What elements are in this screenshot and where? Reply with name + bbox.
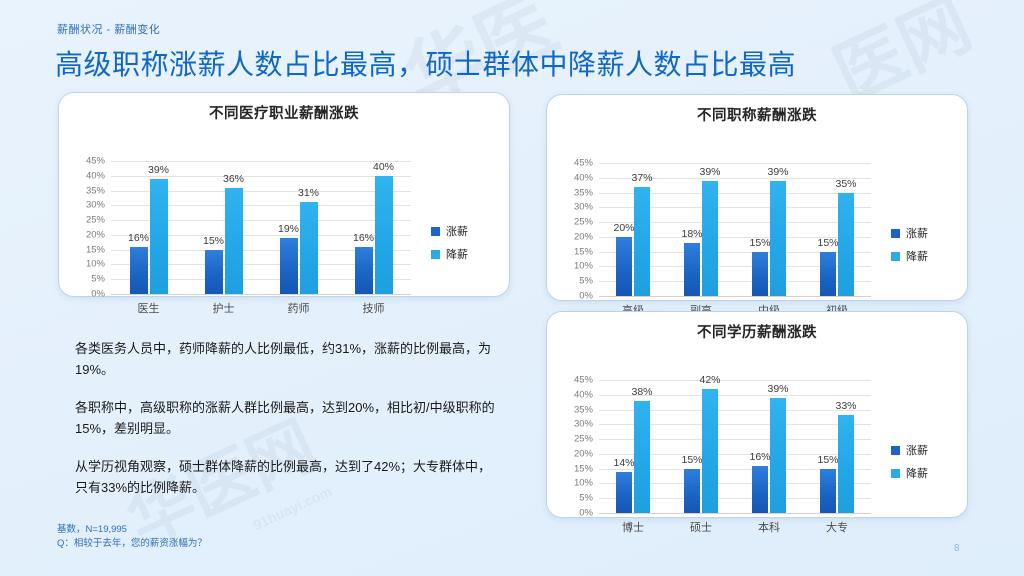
gridline	[111, 161, 411, 162]
x-axis-tick: 技师	[363, 300, 385, 316]
bar-title-rank-中级-降薪	[770, 181, 786, 296]
legend-label: 降薪	[446, 246, 468, 262]
y-axis-tick: 30%	[555, 419, 593, 430]
y-axis-tick: 5%	[555, 493, 593, 504]
x-axis-tick: 本科	[758, 519, 780, 535]
page-number: 8	[954, 543, 960, 554]
legend-item-降薪[interactable]: 降薪	[891, 248, 928, 264]
x-axis-tick: 博士	[622, 519, 644, 535]
bar-education-本科-降薪	[770, 398, 786, 513]
chart-card-title-rank: 不同职称薪酬涨跌 45%40%35%30%25%20%15%10%5%0%20%…	[546, 94, 968, 301]
bar-value-label: 35%	[835, 178, 856, 190]
axis-baseline	[111, 294, 411, 295]
bar-education-硕士-降薪	[702, 389, 718, 513]
insight-paragraph-3: 从学历视角观察，硕士群体降薪的比例最高，达到了42%；大专群体中，只有33%的比…	[75, 456, 495, 498]
legend-label: 涨薪	[906, 225, 928, 241]
bar-value-label: 15%	[681, 454, 702, 466]
bar-title-rank-中级-涨薪	[752, 252, 768, 296]
bar-title-rank-初级-涨薪	[820, 252, 836, 296]
bar-value-label: 38%	[631, 386, 652, 398]
y-axis-tick: 15%	[67, 244, 105, 255]
chart-card-education: 不同学历薪酬涨跌 45%40%35%30%25%20%15%10%5%0%14%…	[546, 311, 968, 518]
y-axis-tick: 10%	[555, 478, 593, 489]
legend-label: 降薪	[906, 248, 928, 264]
bar-value-label: 14%	[613, 457, 634, 469]
legend-label: 涨薪	[906, 442, 928, 458]
insight-text: 各类医务人员中，药师降薪的人比例最低，约31%，涨薪的比例最高，为19%。 各职…	[75, 338, 495, 498]
x-axis-tick: 医生	[138, 300, 160, 316]
page-title: 高级职称涨薪人数占比最高，硕士群体中降薪人数占比最高	[55, 43, 796, 83]
bar-value-label: 15%	[749, 237, 770, 249]
bar-value-label: 36%	[223, 173, 244, 185]
bar-education-博士-涨薪	[616, 472, 632, 513]
y-axis-tick: 25%	[555, 217, 593, 228]
bar-value-label: 39%	[767, 383, 788, 395]
bar-education-大专-降薪	[838, 415, 854, 513]
chart-title-profession: 不同医疗职业薪酬涨跌	[59, 93, 509, 123]
legend-label: 涨薪	[446, 223, 468, 239]
chart-legend: 涨薪降薪	[891, 442, 928, 488]
bar-value-label: 31%	[298, 187, 319, 199]
y-axis-tick: 20%	[555, 231, 593, 242]
chart-title-education: 不同学历薪酬涨跌	[547, 312, 967, 342]
bar-value-label: 33%	[835, 400, 856, 412]
bar-profession-技师-涨薪	[355, 247, 373, 294]
y-axis-tick: 0%	[67, 289, 105, 300]
bar-value-label: 15%	[203, 235, 224, 247]
x-axis-tick: 硕士	[690, 519, 712, 535]
y-axis-tick: 0%	[555, 291, 593, 302]
y-axis-tick: 40%	[555, 389, 593, 400]
y-axis-tick: 30%	[67, 200, 105, 211]
bar-value-label: 18%	[681, 228, 702, 240]
insight-paragraph-2: 各职称中，高级职称的涨薪人群比例最高，达到20%，相比初/中级职称的15%，差别…	[75, 397, 495, 439]
chart-legend: 涨薪降薪	[431, 223, 468, 269]
bar-title-rank-高级-降薪	[634, 187, 650, 296]
breadcrumb: 薪酬状况 - 薪酬变化	[57, 21, 160, 37]
legend-item-降薪[interactable]: 降薪	[891, 465, 928, 481]
y-axis-tick: 40%	[555, 172, 593, 183]
y-axis-tick: 25%	[555, 434, 593, 445]
legend-swatch-icon	[891, 446, 900, 455]
bar-value-label: 20%	[613, 222, 634, 234]
bar-education-大专-涨薪	[820, 469, 836, 513]
legend-swatch-icon	[431, 227, 440, 236]
y-axis-tick: 35%	[67, 185, 105, 196]
y-axis-tick: 45%	[555, 375, 593, 386]
bar-value-label: 40%	[373, 161, 394, 173]
bar-title-rank-高级-涨薪	[616, 237, 632, 296]
bar-profession-医生-涨薪	[130, 247, 148, 294]
y-axis-tick: 0%	[555, 508, 593, 519]
legend-swatch-icon	[431, 250, 440, 259]
bar-profession-护士-降薪	[225, 188, 243, 294]
legend-item-涨薪[interactable]: 涨薪	[431, 223, 468, 239]
y-axis-tick: 5%	[555, 276, 593, 287]
y-axis-tick: 20%	[555, 448, 593, 459]
bar-value-label: 39%	[767, 166, 788, 178]
legend-item-涨薪[interactable]: 涨薪	[891, 442, 928, 458]
legend-label: 降薪	[906, 465, 928, 481]
y-axis-tick: 45%	[555, 158, 593, 169]
chart-legend: 涨薪降薪	[891, 225, 928, 271]
bar-profession-医生-降薪	[150, 179, 168, 294]
bar-value-label: 39%	[148, 164, 169, 176]
bar-education-硕士-涨薪	[684, 469, 700, 513]
x-axis-tick: 大专	[826, 519, 848, 535]
y-axis-tick: 15%	[555, 246, 593, 257]
bar-value-label: 16%	[353, 232, 374, 244]
y-axis-tick: 25%	[67, 215, 105, 226]
y-axis-tick: 40%	[67, 170, 105, 181]
legend-swatch-icon	[891, 469, 900, 478]
bar-profession-护士-涨薪	[205, 250, 223, 294]
footnote-question: Q：相较于去年，您的薪资涨幅为？	[57, 537, 207, 551]
axis-baseline	[599, 513, 871, 514]
bar-education-博士-降薪	[634, 401, 650, 513]
bar-title-rank-副高-降薪	[702, 181, 718, 296]
gridline	[599, 380, 871, 381]
insight-paragraph-1: 各类医务人员中，药师降薪的人比例最低，约31%，涨薪的比例最高，为19%。	[75, 338, 495, 380]
bar-value-label: 37%	[631, 172, 652, 184]
bar-value-label: 15%	[817, 237, 838, 249]
x-axis-tick: 药师	[288, 300, 310, 316]
y-axis-tick: 5%	[67, 274, 105, 285]
bar-education-本科-涨薪	[752, 466, 768, 513]
bar-profession-药师-降薪	[300, 202, 318, 294]
legend-item-降薪[interactable]: 降薪	[431, 246, 468, 262]
y-axis-tick: 10%	[67, 259, 105, 270]
bar-value-label: 16%	[749, 451, 770, 463]
y-axis-tick: 35%	[555, 187, 593, 198]
y-axis-tick: 30%	[555, 202, 593, 213]
bar-value-label: 42%	[699, 374, 720, 386]
bar-value-label: 19%	[278, 223, 299, 235]
bar-value-label: 16%	[128, 232, 149, 244]
bar-profession-技师-降薪	[375, 176, 393, 294]
bar-value-label: 15%	[817, 454, 838, 466]
y-axis-tick: 20%	[67, 229, 105, 240]
x-axis-tick: 护士	[213, 300, 235, 316]
gridline	[111, 176, 411, 177]
bar-profession-药师-涨薪	[280, 238, 298, 294]
bar-title-rank-初级-降薪	[838, 193, 854, 296]
gridline	[599, 163, 871, 164]
legend-swatch-icon	[891, 252, 900, 261]
y-axis-tick: 35%	[555, 404, 593, 415]
axis-baseline	[599, 296, 871, 297]
footnote: 基数，N=19,995 Q：相较于去年，您的薪资涨幅为？	[57, 523, 207, 551]
legend-item-涨薪[interactable]: 涨薪	[891, 225, 928, 241]
bar-title-rank-副高-涨薪	[684, 243, 700, 296]
y-axis-tick: 45%	[67, 156, 105, 167]
legend-swatch-icon	[891, 229, 900, 238]
chart-card-profession: 不同医疗职业薪酬涨跌 45%40%35%30%25%20%15%10%5%0%1…	[58, 92, 510, 297]
y-axis-tick: 10%	[555, 261, 593, 272]
footnote-base: 基数，N=19,995	[57, 523, 207, 537]
y-axis-tick: 15%	[555, 463, 593, 474]
bar-value-label: 39%	[699, 166, 720, 178]
chart-title-rank: 不同职称薪酬涨跌	[547, 95, 967, 125]
